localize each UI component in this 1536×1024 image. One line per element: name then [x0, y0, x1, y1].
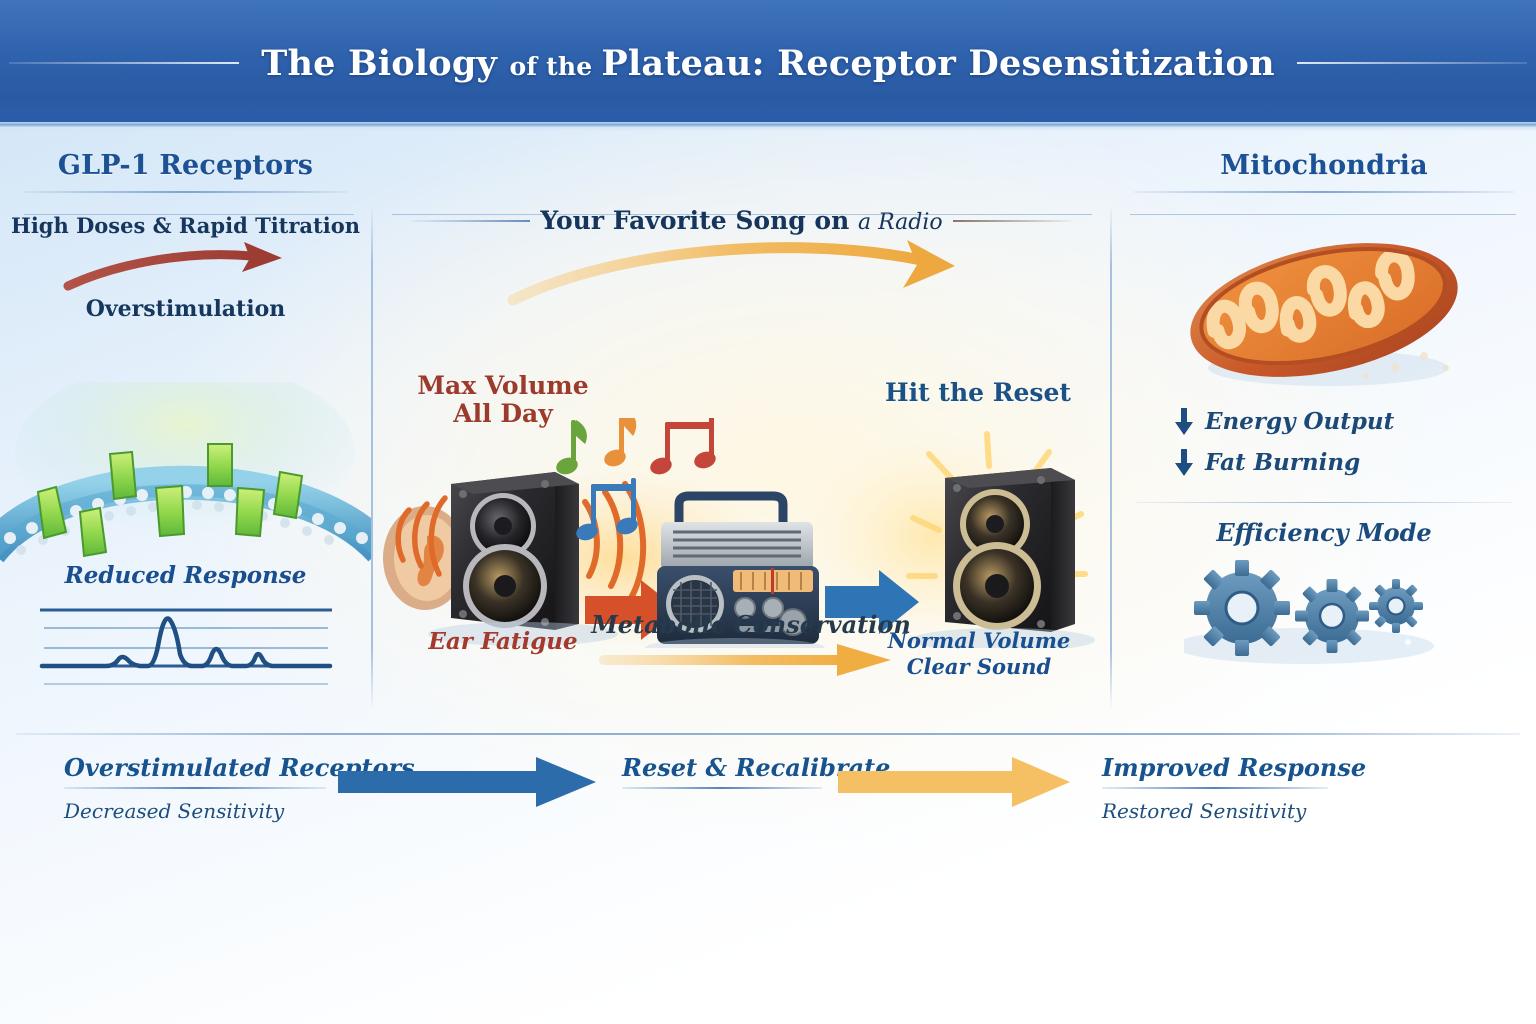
- reset-arc-arrow-icon: [503, 232, 1003, 312]
- center-header-rule-right: [953, 220, 1073, 222]
- flow-arrow-orange-icon: [838, 757, 1076, 807]
- flow-node-underline: [622, 787, 822, 789]
- down-arrow-icon: [1174, 406, 1194, 436]
- list-item: Energy Output: [1174, 406, 1514, 436]
- flow-node-sub: Decreased Sensitivity: [64, 799, 326, 823]
- right-title-rule: [1134, 191, 1514, 193]
- left-panel-title: GLP-1 Receptors: [0, 150, 371, 181]
- panel-glp1-receptors: GLP-1 Receptors High Doses & Rapid Titra…: [0, 150, 371, 710]
- left-overstimulation-label: Overstimulation: [0, 296, 371, 322]
- left-reduced-response-label: Reduced Response: [0, 562, 371, 589]
- flow-node-overstimulated: Overstimulated Receptors Decreased Sensi…: [64, 753, 326, 823]
- banner-rule-right: [1297, 62, 1527, 64]
- flow-node-underline: [1102, 787, 1328, 789]
- panel-radio-analogy: Your Favorite Song on a Radio Max Volume…: [373, 150, 1110, 710]
- left-subtitle: High Doses & Rapid Titration: [0, 213, 371, 238]
- mitochondria-icon: [1156, 236, 1492, 396]
- hit-the-reset-label: Hit the Reset: [853, 378, 1103, 407]
- flow-top-rule: [16, 733, 1520, 735]
- list-item-label: Fat Burning: [1205, 449, 1360, 476]
- panel-mitochondria: Mitochondria: [1112, 150, 1536, 710]
- flow-node-sub: Restored Sensitivity: [1102, 799, 1328, 823]
- gears-icon: [1184, 554, 1464, 664]
- down-arrow-icon: [1174, 447, 1194, 477]
- infographic-canvas: The Biology of the Plateau: Receptor Des…: [0, 0, 1536, 1024]
- flow-node-title: Overstimulated Receptors: [64, 753, 326, 782]
- center-header: Your Favorite Song on a Radio: [373, 206, 1110, 235]
- left-title-rule: [24, 191, 347, 193]
- list-item-label: Energy Output: [1205, 408, 1394, 435]
- flow-node-reset: Reset & Recalibrate: [622, 753, 822, 789]
- flow-node-underline: [64, 787, 326, 789]
- banner-underline: [0, 122, 1536, 131]
- ear-fatigue-label: Ear Fatigue: [395, 628, 611, 655]
- banner-rule-left: [9, 62, 239, 64]
- mitochondria-effects-list: Energy Output Fat Burning: [1174, 406, 1514, 488]
- flow-node-title: Improved Response: [1102, 753, 1328, 782]
- flow-node-improved: Improved Response Restored Sensitivity: [1102, 753, 1328, 823]
- header-banner: The Biology of the Plateau: Receptor Des…: [0, 0, 1536, 122]
- reduced-response-waveform-icon: [36, 598, 336, 694]
- flow-arrow-blue-icon: [338, 757, 602, 807]
- normal-volume-label: Normal VolumeClear Sound: [855, 628, 1103, 681]
- right-panel-title: Mitochondria: [1112, 150, 1536, 181]
- overstimulation-arrow-icon: [56, 242, 316, 300]
- flow-node-title: Reset & Recalibrate: [622, 753, 822, 782]
- center-header-text: Your Favorite Song on a Radio: [530, 206, 952, 235]
- page-title: The Biology of the Plateau: Receptor Des…: [261, 43, 1275, 84]
- efficiency-mode-label: Efficiency Mode: [1112, 518, 1536, 547]
- flow-summary: Overstimulated Receptors Decreased Sensi…: [0, 745, 1536, 855]
- center-header-rule-left: [410, 220, 530, 222]
- list-item: Fat Burning: [1174, 447, 1514, 477]
- right-panel-divider: [1136, 502, 1512, 503]
- cell-membrane-icon: [0, 382, 371, 582]
